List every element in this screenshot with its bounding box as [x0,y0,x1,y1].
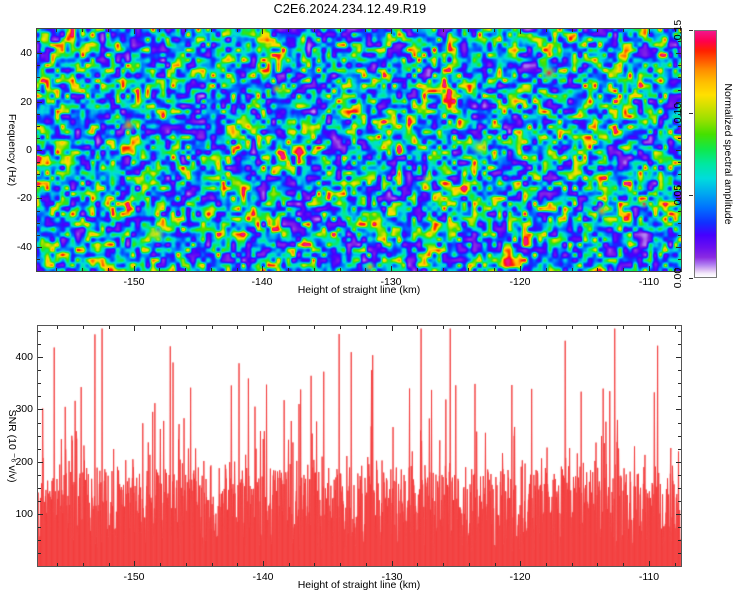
axis-tick [678,65,681,66]
axis-tick [37,235,40,236]
axis-tick [469,326,470,329]
axis-tick [468,29,469,32]
axis-tick [263,561,264,566]
axis-tick [134,29,135,34]
axis-tick [38,409,43,410]
axis-tick [365,29,366,32]
axis-tick [314,268,315,271]
axis-tick [366,326,367,329]
axis-tick [288,29,289,32]
axis-tick [676,53,681,54]
axis-tick [38,553,41,554]
axis-tick [314,326,315,329]
axis-tick-label: -140 [251,276,272,288]
axis-tick [37,138,40,139]
axis-tick [289,326,290,329]
axis-tick [212,326,213,329]
axis-tick [678,370,681,371]
axis-tick [38,501,41,502]
axis-tick [160,326,161,329]
axis-tick [340,326,341,329]
figure-canvas: C2E6.2024.234.12.49.R19 Height of straig… [0,0,750,600]
colorbar[interactable] [694,30,717,278]
axis-tick [468,268,469,271]
axis-tick [159,29,160,32]
colorbar-label: Normalized spectral amplitude [722,83,734,224]
axis-tick [38,357,43,358]
axis-tick [678,488,681,489]
axis-tick [678,396,681,397]
page-title: C2E6.2024.234.12.49.R19 [0,2,700,16]
axis-tick [494,29,495,32]
axis-tick [689,195,693,196]
axis-tick [572,268,573,271]
spectrogram-heatmap [37,29,681,271]
axis-tick [678,383,681,384]
axis-tick [417,563,418,566]
axis-tick [37,77,40,78]
colorbar-gradient [694,30,717,278]
axis-tick [417,29,418,32]
axis-tick [38,540,41,541]
axis-tick [649,326,650,331]
axis-tick [494,268,495,271]
axis-tick [57,563,58,566]
axis-tick [678,344,681,345]
axis-tick [237,29,238,32]
axis-tick [623,563,624,566]
axis-tick [212,563,213,566]
axis-tick [443,326,444,329]
axis-tick [678,527,681,528]
axis-tick [678,259,681,260]
axis-tick-label: -130 [381,571,402,583]
axis-tick [520,266,521,271]
axis-tick [676,150,681,151]
axis-tick [37,247,42,248]
axis-tick [649,266,650,271]
axis-tick [391,29,392,34]
axis-tick-label: -40 [17,241,32,253]
axis-tick [365,268,366,271]
axis-tick-label: -120 [509,571,530,583]
axis-tick [546,563,547,566]
axis-tick [38,527,41,528]
axis-tick [37,90,40,91]
axis-tick-label: -120 [509,276,530,288]
axis-tick [37,223,40,224]
axis-tick [57,326,58,329]
axis-tick [678,211,681,212]
axis-tick [38,462,43,463]
axis-tick [443,29,444,32]
axis-tick [83,326,84,329]
axis-tick [675,563,676,566]
axis-tick [546,29,547,32]
axis-tick [649,561,650,566]
axis-tick [186,563,187,566]
axis-tick [678,223,681,224]
axis-tick [38,331,41,332]
axis-tick [678,501,681,502]
axis-tick-label: 40 [20,47,32,59]
axis-tick [82,268,83,271]
axis-tick [678,553,681,554]
axis-tick [678,540,681,541]
axis-tick [83,563,84,566]
axis-tick-label: 100 [15,508,33,520]
axis-tick [623,268,624,271]
axis-tick [572,326,573,329]
axis-tick [678,331,681,332]
axis-tick [185,29,186,32]
axis-tick [623,29,624,32]
axis-tick [391,266,392,271]
axis-tick [134,266,135,271]
axis-tick [676,357,681,358]
axis-tick [262,29,263,34]
axis-tick [546,268,547,271]
spectrogram-plot-area[interactable] [36,28,682,272]
axis-tick-label: -130 [380,276,401,288]
axis-tick [676,514,681,515]
axis-tick [37,211,40,212]
axis-tick [675,326,676,329]
axis-tick [38,396,41,397]
axis-tick [623,326,624,329]
axis-tick [572,29,573,32]
axis-tick [262,266,263,271]
axis-tick [37,259,40,260]
axis-tick-label: 400 [15,351,33,363]
axis-tick [572,563,573,566]
axis-tick [37,126,40,127]
axis-tick [546,326,547,329]
axis-tick [289,563,290,566]
axis-tick [678,41,681,42]
axis-tick [37,114,40,115]
axis-tick [38,383,41,384]
axis-tick [392,561,393,566]
axis-tick [340,29,341,32]
axis-tick [678,475,681,476]
snr-plot-area[interactable] [37,325,682,567]
axis-tick [108,268,109,271]
axis-tick [160,563,161,566]
snr-trace-line [38,326,681,566]
axis-tick-label: 300 [15,403,33,415]
axis-tick [520,326,521,331]
axis-tick [678,174,681,175]
axis-tick [186,326,187,329]
axis-tick [37,102,42,103]
axis-tick [185,268,186,271]
axis-tick [37,53,42,54]
axis-tick [38,488,41,489]
axis-tick [443,563,444,566]
axis-tick [38,436,41,437]
axis-tick [597,29,598,32]
axis-tick [678,126,681,127]
axis-tick-label: -150 [123,276,144,288]
axis-tick [109,326,110,329]
axis-tick-label: 0 [26,144,32,156]
axis-tick [109,563,110,566]
axis-tick [237,326,238,329]
axis-tick [37,198,42,199]
axis-tick [38,475,41,476]
spectrogram-y-axis-title: Frequency (Hz) [6,114,18,186]
axis-tick [288,268,289,271]
axis-tick [678,449,681,450]
axis-tick [689,278,693,279]
axis-tick [38,370,41,371]
axis-tick [689,30,693,31]
axis-tick [678,235,681,236]
colorbar-tick-label: 0.15 [672,20,684,40]
axis-tick [37,150,42,151]
axis-tick [495,326,496,329]
axis-tick [520,561,521,566]
axis-tick [37,65,40,66]
axis-tick [597,563,598,566]
axis-tick [443,268,444,271]
axis-tick [56,268,57,271]
axis-tick [649,29,650,34]
axis-tick-label: -20 [17,192,32,204]
axis-tick [37,162,40,163]
colorbar-tick-label: 0.00 [672,268,684,288]
axis-tick [237,268,238,271]
snr-y-axis-title: SNR (10 ⁻⁶ v/v) [6,410,18,483]
axis-tick [678,77,681,78]
axis-tick-label: 20 [20,96,32,108]
axis-tick [689,113,693,114]
axis-tick [211,29,212,32]
colorbar-tick-label: 0.10 [672,103,684,123]
axis-tick [159,268,160,271]
axis-tick [597,326,598,329]
axis-tick [676,409,681,410]
axis-tick [134,561,135,566]
axis-tick [340,268,341,271]
axis-tick [495,563,496,566]
axis-tick-label: -150 [123,571,144,583]
colorbar-tick-label: 0.05 [672,185,684,205]
axis-tick-label: -110 [639,276,659,288]
axis-tick-label: 200 [15,456,33,468]
axis-tick [676,247,681,248]
axis-tick-label: -110 [639,571,659,583]
axis-tick [520,29,521,34]
axis-tick [469,563,470,566]
axis-tick [366,563,367,566]
axis-tick [678,436,681,437]
axis-tick [678,138,681,139]
axis-tick [237,563,238,566]
spectrogram-x-axis-title: Height of straight line (km) [298,284,421,296]
axis-tick [134,326,135,331]
axis-tick [82,29,83,32]
axis-tick [392,326,393,331]
axis-tick [340,563,341,566]
axis-tick [37,186,40,187]
axis-tick-label: -140 [252,571,273,583]
axis-tick [417,268,418,271]
axis-tick [38,514,43,515]
axis-tick [678,162,681,163]
axis-tick [38,449,41,450]
axis-tick [38,344,41,345]
axis-tick [37,174,40,175]
axis-tick [314,29,315,32]
axis-tick [38,423,41,424]
axis-tick [211,268,212,271]
axis-tick [678,423,681,424]
axis-tick [56,29,57,32]
axis-tick [597,268,598,271]
axis-tick [314,563,315,566]
axis-tick [676,462,681,463]
axis-tick [678,90,681,91]
axis-tick [417,326,418,329]
axis-tick [37,41,40,42]
axis-tick [263,326,264,331]
axis-tick [108,29,109,32]
